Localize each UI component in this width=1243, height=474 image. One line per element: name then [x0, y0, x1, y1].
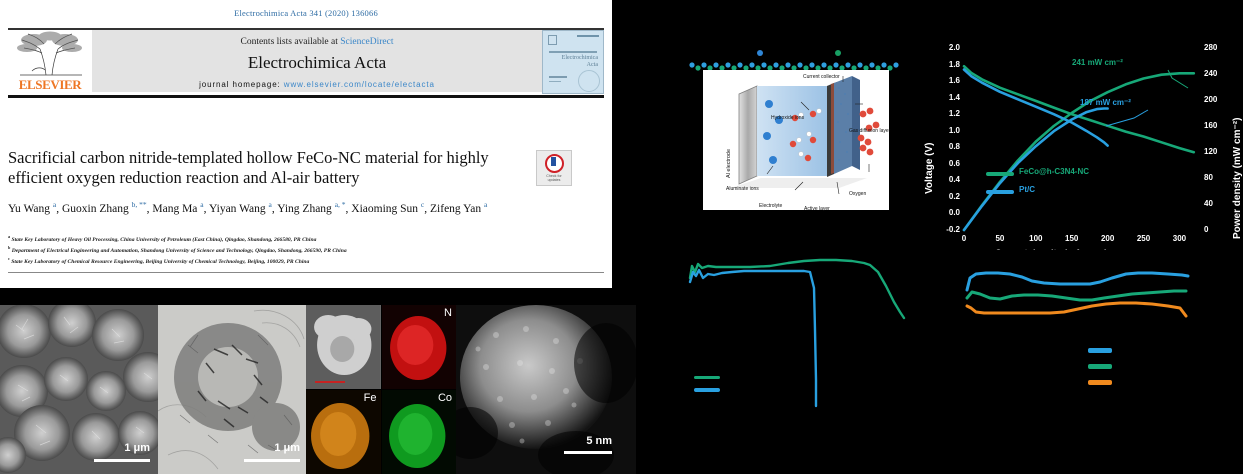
legend-label-ptc: Pt/C: [1019, 185, 1035, 194]
crossmark-label: Check for updates: [546, 174, 561, 183]
crossmark-badge[interactable]: Check for updates: [536, 150, 572, 186]
cover-top-rule: [577, 35, 599, 37]
homepage-prefix: journal homepage:: [199, 80, 284, 89]
masthead-center: Contents lists available at ScienceDirec…: [92, 30, 542, 92]
chart-y2-axis-title: Power density (mW cm⁻²): [1232, 118, 1243, 239]
particle-row-decoration: [686, 48, 902, 72]
legend-swatch-ptc: [986, 190, 1014, 194]
chart-tick-label: 0.8: [930, 142, 960, 151]
legend-label-feco: FeCo@h-C3N4-NC: [1019, 167, 1089, 176]
author-name: Ying Zhang: [277, 203, 335, 215]
elsevier-wordmark: ELSEVIER: [19, 78, 82, 92]
screenshot-root: Electrochimica Acta 341 (2020) 136066: [0, 0, 1243, 474]
journal-masthead: ELSEVIER Contents lists available at Sci…: [8, 30, 604, 92]
label-oxygen: Oxygen: [849, 191, 866, 197]
affiliation-item: c State Key Laboratory of Chemical Resou…: [8, 256, 588, 267]
discharge-legend-swatch-blue: [694, 388, 720, 392]
cover-rule-1: [549, 51, 597, 53]
eds-quad-co[interactable]: Co: [382, 390, 457, 474]
eds-map-grid: N Fe Co: [306, 305, 456, 474]
scale-bar: [94, 459, 150, 462]
rate-canvas: [940, 250, 1225, 415]
author-name: Mang Ma: [152, 203, 200, 215]
stem-texture: [456, 305, 636, 474]
homepage-url[interactable]: www.elsevier.com/locate/electacta: [284, 80, 435, 89]
author-affiliation-mark: a: [53, 200, 56, 209]
eds-quad-fe[interactable]: Fe: [306, 390, 381, 474]
cover-globe-icon: [578, 70, 600, 92]
al-air-battery-schematic[interactable]: Current collector Gas diffusion layer Hy…: [686, 48, 902, 213]
author-affiliation-mark: b, **: [132, 200, 147, 209]
legend-swatch-feco: [986, 172, 1014, 176]
author-name: Yiyan Wang: [209, 203, 269, 215]
author-list: Yu Wang a, Guoxin Zhang b, **, Mang Ma a…: [8, 200, 588, 218]
author-name: Zifeng Yan: [430, 203, 484, 215]
cover-title-line1: Electrochimica: [562, 55, 598, 61]
cover-rule-3: [549, 81, 561, 82]
tem-image[interactable]: 1 μm: [158, 305, 306, 474]
chart-tick-label: 0.0: [930, 208, 960, 217]
chart-tick-label: 1.0: [930, 126, 960, 135]
chart-tick-label: 1.4: [930, 93, 960, 102]
cover-mark-icon: [548, 35, 557, 45]
cover-rule-2: [549, 76, 567, 78]
journal-homepage-line: journal homepage: www.elsevier.com/locat…: [92, 80, 542, 89]
affiliation-mark: c: [8, 256, 10, 261]
rate-legend-swatch-blue: [1088, 348, 1112, 353]
chart-tick-label: 1.2: [930, 109, 960, 118]
author-name: Xiaoming Sun: [351, 203, 421, 215]
affiliation-list: a State Key Laboratory of Heavy Oil Proc…: [8, 234, 588, 267]
chart-tick-label: 200: [1204, 95, 1217, 104]
chart-tick-label: 0.6: [930, 159, 960, 168]
chart-tick-label: 1.8: [930, 60, 960, 69]
haadf-stem-image[interactable]: 5 nm: [456, 305, 636, 474]
chart-tick-label: 0: [955, 234, 973, 243]
scale-bar: [244, 459, 300, 462]
label-hydroxide-ions: Hydroxide ions: [771, 115, 804, 121]
eds-scale-bar: [315, 381, 345, 383]
chart-tick-label: 250: [1135, 234, 1153, 243]
label-active-layer: Active layer: [804, 206, 830, 212]
chart-tick-label: 200: [1099, 234, 1117, 243]
chart-tick-label: 0.4: [930, 175, 960, 184]
micrograph-strip: 1 μm: [0, 305, 640, 474]
label-gas-diffusion-layer: Gas diffusion layer: [849, 128, 890, 134]
sciencedirect-link[interactable]: ScienceDirect: [340, 37, 393, 47]
affiliation-item: b Department of Electrical Engineering a…: [8, 245, 588, 256]
chart-tick-label: -0.2: [930, 225, 960, 234]
chart-tick-label: 240: [1204, 69, 1217, 78]
author-affiliation-mark: a: [484, 200, 487, 209]
chart-tick-label: 300: [1170, 234, 1188, 243]
chart-tick-label: 1.6: [930, 76, 960, 85]
crossmark-line2: updates: [548, 178, 561, 182]
author-affiliation-mark: a, *: [335, 200, 346, 209]
annotation-241: 241 mW cm⁻²: [1072, 58, 1123, 67]
author-affiliation-mark: a: [200, 200, 203, 209]
eds-quad-n[interactable]: N: [382, 305, 457, 389]
chart-tick-label: 280: [1204, 43, 1217, 52]
journal-cover-thumbnail[interactable]: Electrochimica Acta: [542, 30, 604, 94]
author-affiliation-mark: c: [421, 200, 424, 209]
author-name: Guoxin Zhang: [62, 203, 132, 215]
title-line-1: Sacrificial carbon nitride-templated hol…: [8, 148, 442, 167]
chart-canvas: [920, 34, 1243, 262]
header-rule-thick: [8, 95, 604, 98]
label-current-collector: Current collector: [803, 74, 840, 80]
chart-tick-label: 40: [1204, 199, 1213, 208]
chart-tick-label: 0.2: [930, 192, 960, 201]
affiliation-mark: b: [8, 245, 10, 250]
elsevier-tree-icon: [12, 31, 88, 77]
label-al-electrode: Al electrode: [726, 149, 732, 178]
chart-tick-label: 150: [1063, 234, 1081, 243]
haadf-texture: [306, 305, 381, 389]
discharge-canvas: [670, 240, 950, 420]
contents-prefix: Contents lists available at: [240, 37, 340, 47]
eds-label-co: Co: [438, 392, 452, 404]
rate-legend-swatch-orange: [1088, 380, 1112, 385]
rate-performance-plot[interactable]: [940, 250, 1225, 415]
eds-quad-haadf[interactable]: [306, 305, 381, 389]
polarization-power-chart[interactable]: Voltage (V) Power density (mW cm⁻²) Curr…: [920, 34, 1243, 262]
discharge-curve-plot[interactable]: [670, 240, 950, 420]
paper-first-page: Electrochimica Acta 341 (2020) 136066: [0, 0, 612, 288]
author-affiliation-mark: a: [269, 200, 272, 209]
eds-label-fe: Fe: [364, 392, 377, 404]
journal-reference: Electrochimica Acta 341 (2020) 136066: [0, 8, 612, 18]
footer-rule: [8, 272, 604, 273]
discharge-legend-swatch-green: [694, 376, 720, 379]
label-electrolyte: Electrolyte: [759, 203, 782, 209]
journal-title: Electrochimica Acta: [92, 53, 542, 73]
chart-tick-label: 120: [1204, 147, 1217, 156]
scale-bar: [564, 451, 612, 454]
chart-tick-label: 160: [1204, 121, 1217, 130]
chart-tick-label: 2.0: [930, 43, 960, 52]
crossmark-line1: Check for: [546, 174, 561, 178]
chart-tick-label: 100: [1027, 234, 1045, 243]
scale-bar-label: 5 nm: [586, 435, 612, 447]
affiliation-mark: a: [8, 234, 10, 239]
chart-tick-label: 80: [1204, 173, 1213, 182]
affiliation-item: a State Key Laboratory of Heavy Oil Proc…: [8, 234, 588, 245]
elsevier-logo: ELSEVIER: [8, 30, 92, 92]
chart-tick-label: 50: [991, 234, 1009, 243]
eds-label-n: N: [444, 307, 452, 319]
annotation-187: 187 mW cm⁻²: [1080, 98, 1131, 107]
label-aluminate-ions: Aluminate ions: [726, 186, 759, 192]
page-title: Sacrificial carbon nitride-templated hol…: [8, 148, 498, 188]
contents-line: Contents lists available at ScienceDirec…: [92, 37, 542, 47]
chart-tick-label: 0: [1204, 225, 1208, 234]
sem-image[interactable]: 1 μm: [0, 305, 158, 474]
scale-bar-label: 1 μm: [274, 442, 300, 454]
cover-title-line2: Acta: [587, 62, 598, 68]
cover-title: Electrochimica Acta: [562, 55, 598, 68]
scale-bar-label: 1 μm: [124, 442, 150, 454]
crossmark-icon: [545, 154, 564, 173]
author-name: Yu Wang: [8, 203, 53, 215]
rate-legend-swatch-green: [1088, 364, 1112, 369]
